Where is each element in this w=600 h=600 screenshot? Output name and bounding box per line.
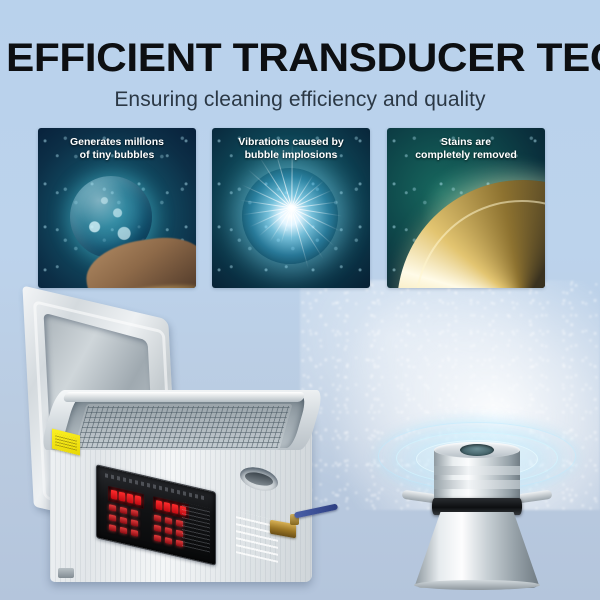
panel-caption: Stains are completely removed [387, 136, 545, 162]
feature-panel-stain-removal: Stains are completely removed [387, 128, 545, 288]
led-digit [111, 490, 117, 500]
transducer-base-face [414, 580, 540, 590]
feature-panel-bubbles: Generates millions of tiny bubbles [38, 128, 196, 288]
led-digit [172, 504, 178, 514]
control-key[interactable] [165, 537, 172, 545]
control-key[interactable] [109, 504, 116, 512]
transducer-cone-base [414, 512, 540, 588]
control-key[interactable] [165, 517, 172, 525]
control-key[interactable] [165, 527, 172, 535]
shard-rays-graphic [218, 144, 364, 272]
control-key[interactable] [131, 519, 138, 527]
panel-caption-line2: completely removed [393, 149, 539, 162]
ceramic-ring [434, 480, 520, 489]
feature-panel-implosions: Vibrations caused by bubble implosions [212, 128, 370, 288]
basket-rim [63, 392, 306, 402]
control-key[interactable] [120, 517, 127, 525]
led-digit [135, 495, 141, 505]
control-key[interactable] [109, 524, 116, 532]
control-key[interactable] [154, 525, 161, 533]
led-digit [119, 491, 125, 501]
page-subtitle: Ensuring cleaning efficiency and quality [0, 88, 600, 112]
control-key[interactable] [154, 535, 161, 543]
panel-caption-line2: bubble implosions [218, 149, 364, 162]
panel-caption: Generates millions of tiny bubbles [38, 136, 196, 162]
control-key[interactable] [120, 507, 127, 515]
cleaner-foot [58, 568, 74, 578]
control-key[interactable] [131, 529, 138, 537]
led-digit [164, 502, 170, 512]
page-headline: EFFICIENT TRANSDUCER TECHNOLOGY [6, 36, 600, 80]
panel-caption-line1: Vibrations caused by [218, 136, 364, 149]
piezoelectric-transducer [372, 400, 582, 590]
control-key[interactable] [131, 509, 138, 517]
control-key[interactable] [120, 527, 127, 535]
control-panel-instructions-text [182, 502, 210, 552]
control-key[interactable] [109, 514, 116, 522]
led-digit [127, 493, 133, 503]
timer-button-group[interactable] [107, 504, 143, 538]
ceramic-ring [434, 466, 520, 475]
panel-caption-line1: Generates millions [44, 136, 190, 149]
led-digit [156, 500, 162, 510]
panel-caption-line1: Stains are [393, 136, 539, 149]
control-key[interactable] [154, 515, 161, 523]
panel-caption-line2: of tiny bubbles [44, 149, 190, 162]
cleaning-basket [73, 404, 292, 450]
panel-caption: Vibrations caused by bubble implosions [212, 136, 370, 162]
ultrasonic-cleaner-product [22, 300, 342, 595]
marketing-banner: EFFICIENT TRANSDUCER TECHNOLOGY Ensuring… [0, 0, 600, 600]
transducer-center-hole [460, 444, 494, 456]
